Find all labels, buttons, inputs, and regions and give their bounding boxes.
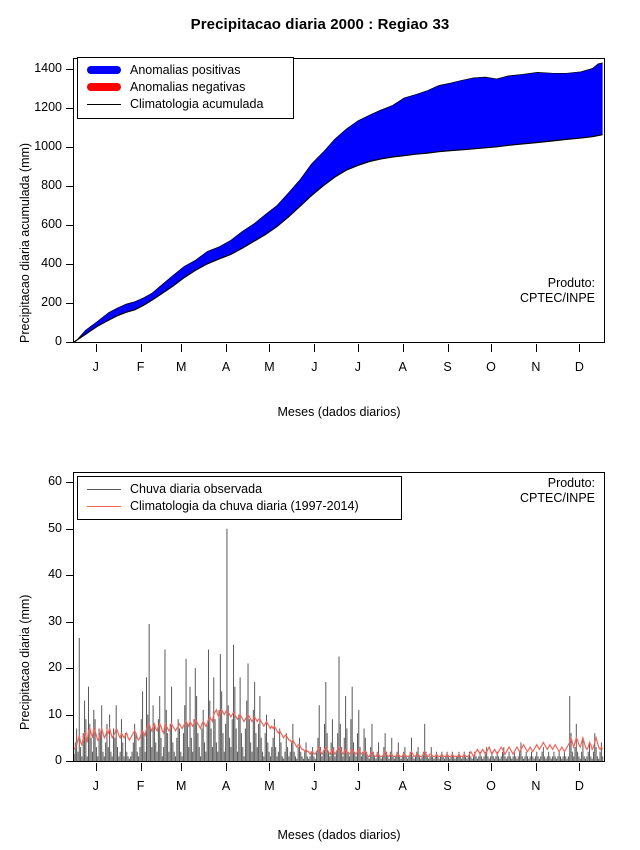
bottom-y-tick-label: 0 (6, 753, 62, 767)
bottom-y-tick (66, 482, 73, 483)
daily-precipitation-panel: Precipitacao diaria (mm) Meses (dados di… (0, 430, 640, 850)
top-x-tick (491, 344, 492, 352)
bottom-y-tick-label: 30 (6, 614, 62, 628)
top-x-tick (314, 344, 315, 352)
positive-anomaly-swatch (87, 66, 121, 74)
bottom-x-tick (141, 763, 142, 771)
produto-line-1: Produto: (440, 476, 595, 491)
top-x-tick-label: O (475, 360, 507, 374)
bottom-x-tick (96, 763, 97, 771)
bottom-y-tick (66, 575, 73, 576)
bottom-x-tick (403, 763, 404, 771)
bottom-x-tick-label: A (387, 779, 419, 793)
bottom-x-tick (181, 763, 182, 771)
top-y-tick (66, 108, 73, 109)
top-y-tick (66, 342, 73, 343)
top-y-tick-label: 1400 (6, 61, 62, 75)
bottom-x-axis-label: Meses (dados diarios) (73, 828, 605, 842)
top-y-tick (66, 303, 73, 304)
observed-rain-line-key (87, 489, 121, 490)
produto-line-2: CPTEC/INPE (440, 291, 595, 306)
legend-label-daily-climatology: Climatologia da chuva diaria (1997-2014) (130, 499, 359, 513)
legend-label-observed: Chuva diaria observada (130, 482, 262, 496)
bottom-x-tick-label: M (165, 779, 197, 793)
legend-label-positive: Anomalias positivas (130, 63, 240, 77)
bottom-x-tick-label: D (563, 779, 595, 793)
legend-item-negative: Anomalias negativas (78, 79, 293, 96)
produto-line-1: Produto: (440, 276, 595, 291)
bottom-x-tick-label: J (342, 779, 374, 793)
top-x-tick (181, 344, 182, 352)
top-x-tick-label: D (563, 360, 595, 374)
top-x-tick (448, 344, 449, 352)
top-x-tick (579, 344, 580, 352)
bottom-produto-annotation: Produto: CPTEC/INPE (440, 476, 595, 506)
bottom-x-tick-label: O (475, 779, 507, 793)
top-y-tick (66, 264, 73, 265)
bottom-x-tick (314, 763, 315, 771)
bottom-y-tick (66, 668, 73, 669)
top-y-tick (66, 186, 73, 187)
bottom-x-tick-label: J (298, 779, 330, 793)
legend-label-climatology: Climatologia acumulada (130, 97, 263, 111)
top-y-tick-label: 0 (6, 334, 62, 348)
bottom-x-tick-label: J (80, 779, 112, 793)
top-x-tick-label: A (387, 360, 419, 374)
bottom-y-tick-label: 50 (6, 521, 62, 535)
bottom-y-tick-label: 20 (6, 660, 62, 674)
bottom-y-tick (66, 622, 73, 623)
bottom-x-tick (579, 763, 580, 771)
top-y-tick-label: 200 (6, 295, 62, 309)
bottom-x-tick-label: N (520, 779, 552, 793)
bottom-x-tick-label: M (253, 779, 285, 793)
top-x-tick-label: F (125, 360, 157, 374)
top-y-tick (66, 147, 73, 148)
bottom-y-tick (66, 761, 73, 762)
top-x-tick (536, 344, 537, 352)
top-y-tick-label: 600 (6, 217, 62, 231)
legend-item-daily-climatology: Climatologia da chuva diaria (1997-2014) (78, 498, 401, 515)
top-x-tick (358, 344, 359, 352)
climatology-line-key (87, 104, 121, 105)
top-x-tick-label: N (520, 360, 552, 374)
top-x-tick-label: M (165, 360, 197, 374)
bottom-x-tick-label: A (210, 779, 242, 793)
top-y-tick-label: 1000 (6, 139, 62, 153)
bottom-x-tick (269, 763, 270, 771)
bottom-y-tick (66, 529, 73, 530)
top-x-tick-label: M (253, 360, 285, 374)
top-y-tick-label: 800 (6, 178, 62, 192)
top-y-tick (66, 69, 73, 70)
top-produto-annotation: Produto: CPTEC/INPE (440, 276, 595, 306)
top-y-tick-label: 400 (6, 256, 62, 270)
accumulated-precipitation-panel: Precipitacao diaria acumulada (mm) Meses… (0, 0, 640, 430)
bottom-y-tick-label: 10 (6, 707, 62, 721)
top-x-tick (269, 344, 270, 352)
top-x-tick (96, 344, 97, 352)
top-x-tick-label: S (432, 360, 464, 374)
top-x-tick-label: A (210, 360, 242, 374)
top-y-axis-label: Precipitacao diaria acumulada (mm) (18, 143, 32, 343)
bottom-x-tick-label: F (125, 779, 157, 793)
legend-label-negative: Anomalias negativas (130, 80, 245, 94)
top-legend: Anomalias positivas Anomalias negativas … (77, 57, 294, 119)
bottom-y-tick (66, 715, 73, 716)
bottom-x-tick (358, 763, 359, 771)
top-x-tick-label: J (342, 360, 374, 374)
bottom-y-tick-label: 60 (6, 474, 62, 488)
legend-item-observed: Chuva diaria observada (78, 481, 401, 498)
daily-climatology-line-key (87, 506, 121, 507)
bottom-y-tick-label: 40 (6, 567, 62, 581)
top-y-tick-label: 1200 (6, 100, 62, 114)
produto-line-2: CPTEC/INPE (440, 491, 595, 506)
figure-page: Precipitacao diaria 2000 : Regiao 33 Pre… (0, 0, 640, 850)
bottom-x-tick (448, 763, 449, 771)
top-x-tick (226, 344, 227, 352)
bottom-x-tick (536, 763, 537, 771)
negative-anomaly-swatch (87, 83, 121, 91)
top-x-tick (403, 344, 404, 352)
legend-item-climatology: Climatologia acumulada (78, 96, 293, 113)
top-x-tick (141, 344, 142, 352)
bottom-x-tick (226, 763, 227, 771)
top-y-tick (66, 225, 73, 226)
top-x-tick-label: J (80, 360, 112, 374)
legend-item-positive: Anomalias positivas (78, 62, 293, 79)
bottom-x-tick-label: S (432, 779, 464, 793)
top-x-tick-label: J (298, 360, 330, 374)
bottom-legend: Chuva diaria observada Climatologia da c… (77, 476, 402, 520)
bottom-x-tick (491, 763, 492, 771)
top-x-axis-label: Meses (dados diarios) (73, 405, 605, 419)
